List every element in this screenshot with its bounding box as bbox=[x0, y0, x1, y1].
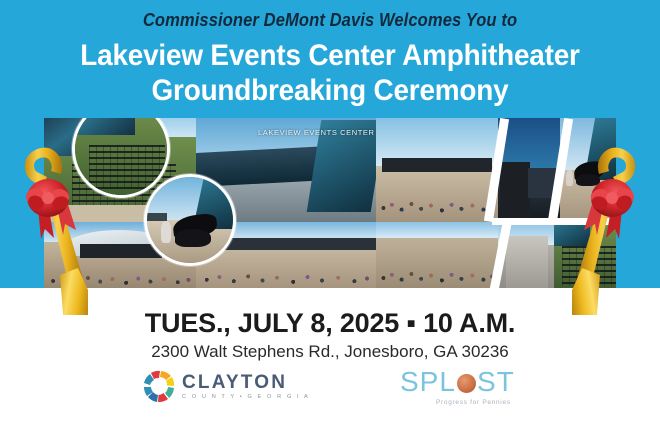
title-line-2: Groundbreaking Ceremony bbox=[23, 73, 637, 108]
logo-row: CLAYTON C O U N T Y • G E O R G I A SPL … bbox=[0, 370, 660, 414]
clayton-county-logo: CLAYTON C O U N T Y • G E O R G I A bbox=[142, 370, 310, 404]
splost-tagline: Progress for Pennies bbox=[436, 399, 511, 406]
golden-shovel-left bbox=[2, 130, 88, 315]
clayton-subtitle: C O U N T Y • G E O R G I A bbox=[182, 395, 310, 401]
photo-collage: LAKEVIEW EVENTS CENTER bbox=[44, 118, 616, 290]
eyebrow-welcome-text: Commissioner DeMont Davis Welcomes You t… bbox=[26, 11, 633, 31]
penny-coin-icon bbox=[457, 374, 476, 393]
clayton-name: CLAYTON bbox=[182, 373, 310, 392]
header-block: Commissioner DeMont Davis Welcomes You t… bbox=[0, 0, 660, 108]
golden-shovel-right bbox=[572, 130, 658, 315]
splost-text-after-o: ST bbox=[477, 368, 515, 396]
splost-text-before-o: SPL bbox=[400, 368, 456, 396]
collage-photo-plaza-crowd bbox=[376, 118, 498, 222]
page-title: Lakeview Events Center Amphitheater Grou… bbox=[23, 38, 637, 108]
event-date-time: TUES., JULY 8, 2025 ▪ 10 A.M. bbox=[0, 308, 660, 339]
groundbreaking-ceremony-flyer: Commissioner DeMont Davis Welcomes You t… bbox=[0, 0, 660, 427]
bottom-info-area: TUES., JULY 8, 2025 ▪ 10 A.M. 2300 Walt … bbox=[0, 288, 660, 427]
venue-signage-text: LAKEVIEW EVENTS CENTER bbox=[258, 128, 375, 137]
event-address: 2300 Walt Stephens Rd., Jonesboro, GA 30… bbox=[0, 342, 660, 362]
collage-photo-crowd-walking bbox=[376, 222, 498, 290]
splost-wordmark: SPL ST bbox=[400, 368, 515, 396]
splost-logo: SPL ST Progress for Pennies bbox=[400, 368, 515, 406]
clayton-wordmark: CLAYTON C O U N T Y • G E O R G I A bbox=[182, 373, 310, 401]
shovel-icon bbox=[2, 130, 88, 315]
title-line-1: Lakeview Events Center Amphitheater bbox=[80, 39, 579, 72]
clayton-county-globe-airplane-emblem bbox=[142, 370, 176, 404]
shovel-icon bbox=[572, 130, 658, 315]
